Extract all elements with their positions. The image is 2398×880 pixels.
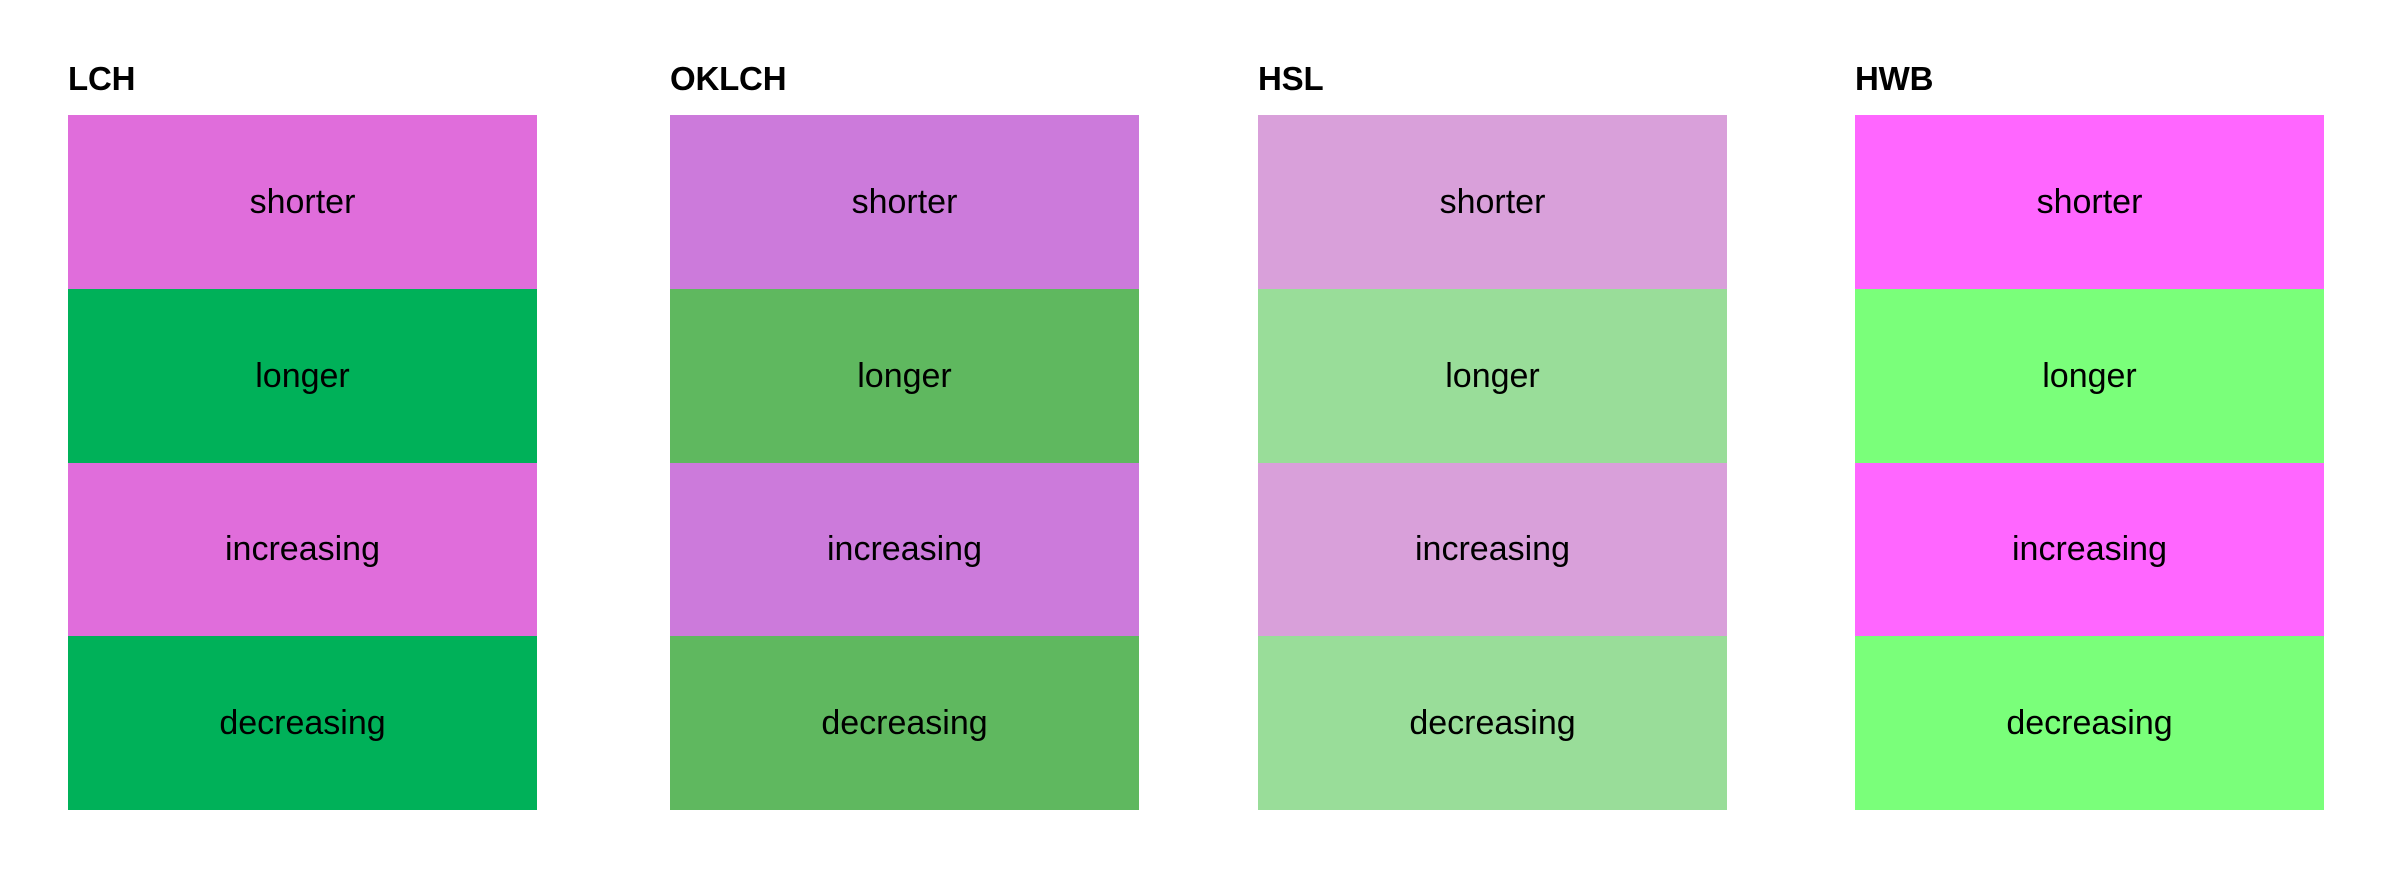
swatch-label: decreasing [2006, 706, 2172, 740]
color-space-column-hwb: HWBshorterlongerincreasingdecreasing [1855, 60, 2324, 810]
swatch-increasing: increasing [1258, 463, 1727, 637]
color-space-column-lch: LCHshorterlongerincreasingdecreasing [68, 60, 537, 810]
swatch-label: shorter [1440, 185, 1546, 219]
swatch-label: longer [857, 359, 952, 393]
swatch-increasing: increasing [670, 463, 1139, 637]
column-title: HSL [1258, 60, 1727, 98]
swatch-shorter: shorter [1258, 115, 1727, 289]
swatch-label: decreasing [219, 706, 385, 740]
swatch-decreasing: decreasing [1855, 636, 2324, 810]
swatch-label: longer [2042, 359, 2137, 393]
swatch-label: decreasing [1409, 706, 1575, 740]
swatch-label: longer [1445, 359, 1540, 393]
swatch-longer: longer [68, 289, 537, 463]
swatch-label: shorter [250, 185, 356, 219]
swatch-label: increasing [1415, 532, 1570, 566]
swatch-label: shorter [852, 185, 958, 219]
swatch-decreasing: decreasing [68, 636, 537, 810]
swatch-label: increasing [827, 532, 982, 566]
swatch-longer: longer [1855, 289, 2324, 463]
column-title: LCH [68, 60, 537, 98]
swatch-label: longer [255, 359, 350, 393]
color-space-column-oklch: OKLCHshorterlongerincreasingdecreasing [670, 60, 1139, 810]
swatch-stack: shorterlongerincreasingdecreasing [1855, 115, 2324, 810]
swatch-label: increasing [225, 532, 380, 566]
swatch-longer: longer [670, 289, 1139, 463]
swatch-shorter: shorter [68, 115, 537, 289]
swatch-increasing: increasing [68, 463, 537, 637]
swatch-decreasing: decreasing [1258, 636, 1727, 810]
column-title: OKLCH [670, 60, 1139, 98]
swatch-stack: shorterlongerincreasingdecreasing [670, 115, 1139, 810]
color-space-column-hsl: HSLshorterlongerincreasingdecreasing [1258, 60, 1727, 810]
swatch-increasing: increasing [1855, 463, 2324, 637]
column-title: HWB [1855, 60, 2324, 98]
swatch-label: decreasing [821, 706, 987, 740]
swatch-label: increasing [2012, 532, 2167, 566]
swatch-longer: longer [1258, 289, 1727, 463]
color-interpolation-comparison: LCHshorterlongerincreasingdecreasingOKLC… [0, 0, 2398, 880]
swatch-decreasing: decreasing [670, 636, 1139, 810]
swatch-stack: shorterlongerincreasingdecreasing [68, 115, 537, 810]
swatch-shorter: shorter [1855, 115, 2324, 289]
swatch-stack: shorterlongerincreasingdecreasing [1258, 115, 1727, 810]
swatch-label: shorter [2037, 185, 2143, 219]
swatch-shorter: shorter [670, 115, 1139, 289]
